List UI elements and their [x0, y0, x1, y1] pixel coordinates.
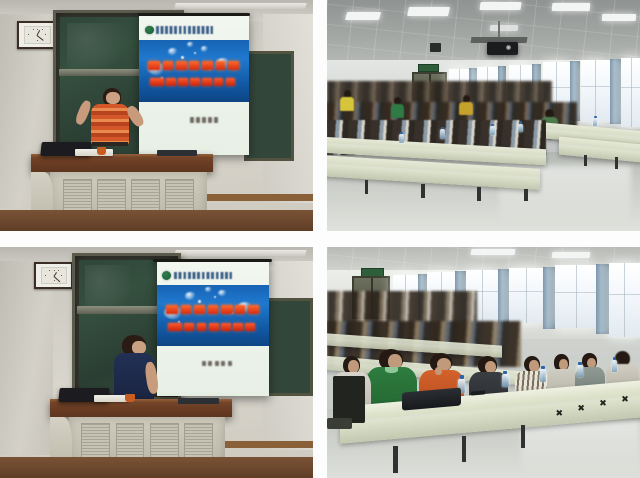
- title-glyph: [176, 61, 187, 70]
- bokeh-circle: [185, 292, 196, 299]
- desk-leg: [477, 187, 481, 201]
- presenter-arm-raised-left: [74, 99, 93, 126]
- bokeh-circle: [205, 287, 212, 292]
- auditorium-scene-close: ✖ ✖ ✖ ✖: [327, 247, 640, 478]
- photo-collage: ✖ ✖ ✖ ✖: [0, 0, 640, 478]
- water-bottle: [593, 118, 597, 126]
- title-glyph: [163, 61, 173, 70]
- blackboard-side-panel: [244, 51, 294, 161]
- bokeh-circle: [187, 42, 194, 46]
- floor-reflection: [521, 420, 640, 475]
- clock-face: [24, 26, 51, 44]
- date-glyph: [208, 361, 212, 366]
- university-emblem-icon: [145, 26, 154, 35]
- slide-date: [190, 117, 218, 123]
- university-emblem-icon: [162, 271, 171, 280]
- ceiling-projector: [487, 42, 518, 55]
- ceiling-light-panel: [489, 25, 518, 31]
- ceiling-light-panel: [552, 252, 590, 258]
- presenter-torso: [91, 104, 129, 145]
- subtitle-glyph: [214, 78, 224, 86]
- torso: [459, 102, 473, 116]
- water-bottle: [399, 134, 404, 143]
- ceiling-light-panel: [345, 12, 382, 20]
- podium-desktop: [31, 154, 213, 172]
- torso: [391, 104, 405, 118]
- baseboard: [207, 194, 313, 201]
- window: [581, 60, 611, 122]
- date-glyph: [196, 117, 200, 123]
- ceiling-light-strip: [175, 3, 308, 9]
- ceiling-light-panel: [470, 249, 515, 255]
- subtitle-glyph: [221, 323, 231, 331]
- left-wall: [0, 261, 53, 455]
- window: [609, 263, 640, 337]
- window-curtain: [610, 59, 621, 124]
- date-glyph: [215, 361, 219, 366]
- subtitle-glyph: [197, 323, 207, 331]
- cup: [125, 394, 134, 402]
- date-glyph: [202, 117, 206, 123]
- window: [621, 58, 640, 127]
- title-glyph: [148, 61, 160, 70]
- papers-stack: [75, 149, 113, 156]
- projector-lens-icon: [506, 45, 511, 50]
- floor-strip: [0, 210, 313, 231]
- water-bottle: [612, 360, 618, 372]
- slide-header-text: [156, 26, 212, 34]
- water-bottle: [502, 374, 508, 387]
- presenter-face: [106, 92, 120, 104]
- slide-header-text: [174, 272, 232, 279]
- exit-sign: [418, 64, 439, 73]
- window-curtain: [543, 267, 555, 329]
- torso: [340, 97, 354, 111]
- desk-equipment: [178, 398, 219, 404]
- subtitle-glyph: [226, 78, 236, 86]
- title-glyph: [248, 305, 259, 314]
- subtitle-glyph: [202, 78, 212, 86]
- chair-seat: [327, 418, 352, 430]
- slide-title: [166, 305, 261, 314]
- chair-leg-x: ✖: [555, 409, 563, 418]
- date-glyph: [202, 361, 206, 366]
- audience-member: [340, 90, 356, 111]
- desk-equipment: [157, 150, 198, 156]
- chair-leg-x: ✖: [577, 404, 585, 413]
- slide-banner: [157, 285, 270, 347]
- slide-subtitle: [150, 78, 238, 86]
- blackboard-side-panel: [266, 298, 313, 396]
- desk-leg: [521, 425, 525, 448]
- desk-leg: [365, 180, 369, 194]
- slide-title: [148, 61, 240, 70]
- chair-leg-x: ✖: [599, 399, 607, 408]
- title-glyph: [194, 305, 205, 314]
- cup: [97, 147, 106, 155]
- bokeh-circle: [218, 290, 227, 296]
- subtitle-glyph: [209, 323, 219, 331]
- photo-top-left[interactable]: [0, 0, 313, 231]
- classroom-scene-2: [0, 247, 313, 478]
- bokeh-circle: [168, 48, 178, 55]
- presenter-belt: [92, 142, 127, 146]
- ceiling-light-panel: [552, 3, 590, 11]
- date-glyph: [221, 361, 225, 366]
- window-curtain: [596, 264, 609, 333]
- presenter-face: [132, 341, 146, 354]
- subtitle-glyph: [178, 78, 188, 86]
- projection-screen: [157, 262, 270, 396]
- title-glyph: [235, 305, 244, 314]
- title-glyph: [166, 305, 178, 314]
- auditorium-scene-wide: [327, 0, 640, 231]
- projection-screen: [139, 16, 249, 155]
- desk-leg: [615, 157, 618, 169]
- water-bottle: [440, 129, 445, 138]
- ceiling-light-panel: [480, 2, 522, 10]
- photo-top-right[interactable]: [327, 0, 640, 231]
- date-glyph: [228, 361, 232, 366]
- date-glyph: [208, 117, 212, 123]
- ceiling-light-panel: [602, 14, 637, 21]
- ceiling-light-panel: [407, 7, 450, 16]
- baseboard: [225, 441, 313, 448]
- title-glyph: [202, 61, 213, 70]
- floor-strip: [0, 457, 313, 478]
- slide-banner: [139, 40, 249, 102]
- title-glyph: [228, 61, 239, 70]
- slide-header: [145, 22, 213, 39]
- slide-subtitle: [168, 323, 258, 331]
- presenter-female: [106, 335, 162, 404]
- sparkle: [214, 296, 216, 298]
- desk-leg: [584, 155, 587, 167]
- chair-back: [333, 376, 364, 422]
- date-glyph: [214, 117, 218, 123]
- subtitle-glyph: [233, 323, 243, 331]
- photo-bottom-right[interactable]: ✖ ✖ ✖ ✖: [327, 247, 640, 478]
- subtitle-glyph: [150, 78, 164, 86]
- ceiling-light-strip: [175, 250, 308, 256]
- subtitle-glyph: [184, 323, 194, 331]
- sparkle: [181, 56, 184, 59]
- photo-bottom-left[interactable]: [0, 247, 313, 478]
- audience-member: [458, 95, 474, 116]
- presentation-slide: [139, 16, 249, 155]
- wall-clock: [17, 21, 57, 49]
- bokeh-circle: [201, 46, 209, 52]
- water-bottle: [540, 369, 546, 381]
- chair-leg-x: ✖: [621, 395, 629, 404]
- date-glyph: [190, 117, 194, 123]
- desk-leg: [393, 446, 398, 474]
- polo-collar: [385, 367, 398, 372]
- window: [509, 268, 543, 323]
- title-glyph: [216, 61, 225, 70]
- title-glyph: [181, 305, 191, 314]
- presentation-slide: [157, 262, 270, 396]
- sparkle: [194, 52, 196, 54]
- title-glyph: [189, 61, 199, 70]
- audience-member: [390, 97, 406, 118]
- title-glyph: [208, 305, 218, 314]
- slide-date: [202, 361, 232, 366]
- clock-face: [41, 267, 67, 285]
- title-glyph: [221, 305, 232, 314]
- water-bottle: [518, 124, 523, 132]
- wall-clock: [34, 262, 72, 289]
- window: [555, 265, 596, 327]
- desk-leg: [524, 189, 528, 201]
- desk-leg: [421, 184, 425, 198]
- papers-stack: [94, 395, 128, 402]
- window-curtain: [498, 269, 509, 324]
- sparkle: [198, 300, 201, 303]
- classroom-scene-1: [0, 0, 313, 231]
- desk-leg: [462, 436, 467, 461]
- subtitle-glyph: [190, 78, 200, 86]
- subtitle-glyph: [166, 78, 176, 86]
- subtitle-glyph: [245, 323, 255, 331]
- slide-header: [162, 267, 232, 283]
- subtitle-glyph: [168, 323, 182, 331]
- water-bottle: [490, 126, 495, 135]
- water-bottle: [577, 365, 583, 377]
- ceiling-speaker: [430, 43, 441, 52]
